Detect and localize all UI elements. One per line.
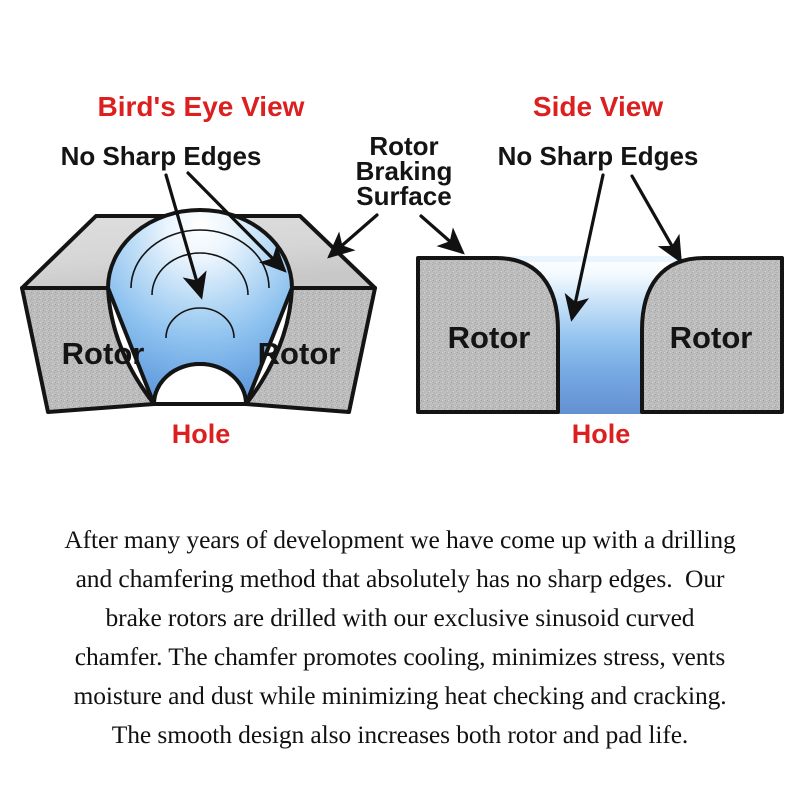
rotor-chamfer-diagram: Rotor Rotor Bird's Eye View No Sharp Edg… (0, 0, 800, 470)
right-hole-label: Hole (572, 419, 631, 449)
left-panel-birds-eye-view: Rotor Rotor Bird's Eye View No Sharp Edg… (22, 91, 375, 449)
right-no-sharp-edges-label: No Sharp Edges (498, 141, 699, 171)
right-panel-title: Side View (533, 91, 663, 122)
description-line: The smooth design also increases both ro… (0, 715, 800, 754)
braking-surface-leader-left (330, 215, 377, 256)
side-surface-wash (500, 256, 682, 262)
rotor-braking-surface-callout: Rotor Braking Surface (330, 131, 462, 256)
side-rotor-label-left: Rotor (448, 320, 531, 355)
diagram-area: Rotor Rotor Bird's Eye View No Sharp Edg… (0, 0, 800, 470)
rotor-label-left: Rotor (62, 336, 145, 371)
right-leader-to-right-chamfer (632, 176, 680, 260)
left-no-sharp-edges-label: No Sharp Edges (61, 141, 262, 171)
left-panel-title: Bird's Eye View (98, 91, 305, 122)
description-line: and chamfering method that absolutely ha… (0, 559, 800, 598)
right-panel-side-view: Rotor Rotor Side View No Sharp Edges Hol… (418, 91, 782, 449)
description-paragraph: After many years of development we have … (0, 520, 800, 754)
description-line: After many years of development we have … (0, 520, 800, 559)
braking-surface-line-3: Surface (356, 181, 451, 211)
description-line: chamfer. The chamfer promotes cooling, m… (0, 637, 800, 676)
rotor-label-right: Rotor (258, 336, 341, 371)
description-line: moisture and dust while minimizing heat … (0, 676, 800, 715)
left-hole-label: Hole (172, 419, 231, 449)
side-rotor-label-right: Rotor (670, 320, 753, 355)
page-root: Rotor Rotor Bird's Eye View No Sharp Edg… (0, 0, 800, 800)
braking-surface-leader-right (421, 216, 462, 252)
description-line: brake rotors are drilled with our exclus… (0, 598, 800, 637)
